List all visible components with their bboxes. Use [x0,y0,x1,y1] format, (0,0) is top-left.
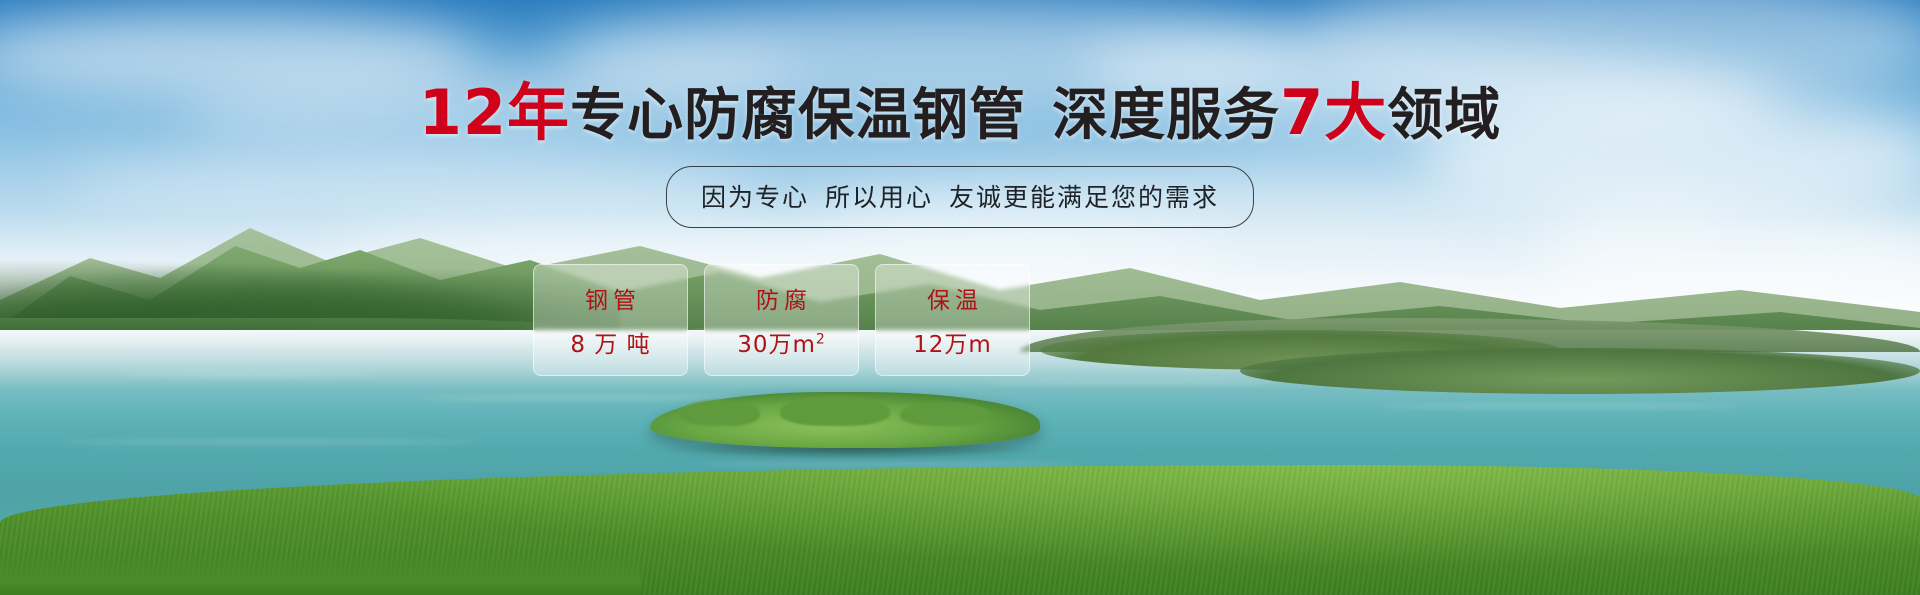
headline-text-primary: 专心防腐保温钢管 [570,83,1026,148]
marsh-vegetation [1240,348,1920,394]
water-ripple [120,372,380,376]
stat-card-anticorrosion: 防腐 30万m2 [704,264,859,376]
headline-accent-fields: 7大 [1280,76,1387,149]
stat-card-value: 30万m2 [737,325,826,359]
subtitle-segment-2: 所以用心 [825,183,933,212]
water-ripple [700,462,1080,466]
stat-card-value-exponent: 2 [816,331,826,347]
stat-card-value-text: 12万m [913,332,992,358]
grass-tuft [900,402,990,426]
headline-text-tertiary: 领域 [1387,83,1501,148]
promo-banner: 12年专心防腐保温钢管深度服务7大领域 因为专心所以用心友诚更能满足您的需求 钢… [0,0,1920,595]
stat-card-steel-pipe: 钢管 8 万 吨 [533,264,688,376]
headline-accent-years: 12年 [419,76,570,149]
stat-card-value: 8 万 吨 [570,325,650,359]
grass-field-left-edge [0,549,640,595]
stat-card-value-text: 30万m [737,332,816,358]
stat-card-title: 防腐 [751,281,812,315]
subtitle-pill: 因为专心所以用心友诚更能满足您的需求 [666,166,1254,228]
subtitle-segment-3: 友诚更能满足您的需求 [949,183,1219,212]
subtitle-segment-1: 因为专心 [701,183,809,212]
stat-card-title: 钢管 [580,281,641,315]
page-title: 12年专心防腐保温钢管深度服务7大领域 [0,82,1920,144]
stat-card-group: 钢管 8 万 吨 防腐 30万m2 保温 12万m [533,264,1030,376]
grass-tuft [780,396,890,426]
stat-card-value-text: 8 万 吨 [570,332,650,358]
grass-tuft [680,400,760,426]
water-ripple [420,396,740,400]
headline-text-secondary: 深度服务 [1052,83,1280,148]
stat-card-insulation: 保温 12万m [875,264,1030,376]
stat-card-value: 12万m [913,325,992,359]
water-ripple [980,380,1280,384]
stat-card-title: 保温 [922,281,983,315]
water-ripple [60,440,480,444]
grass-islet [650,392,1040,448]
